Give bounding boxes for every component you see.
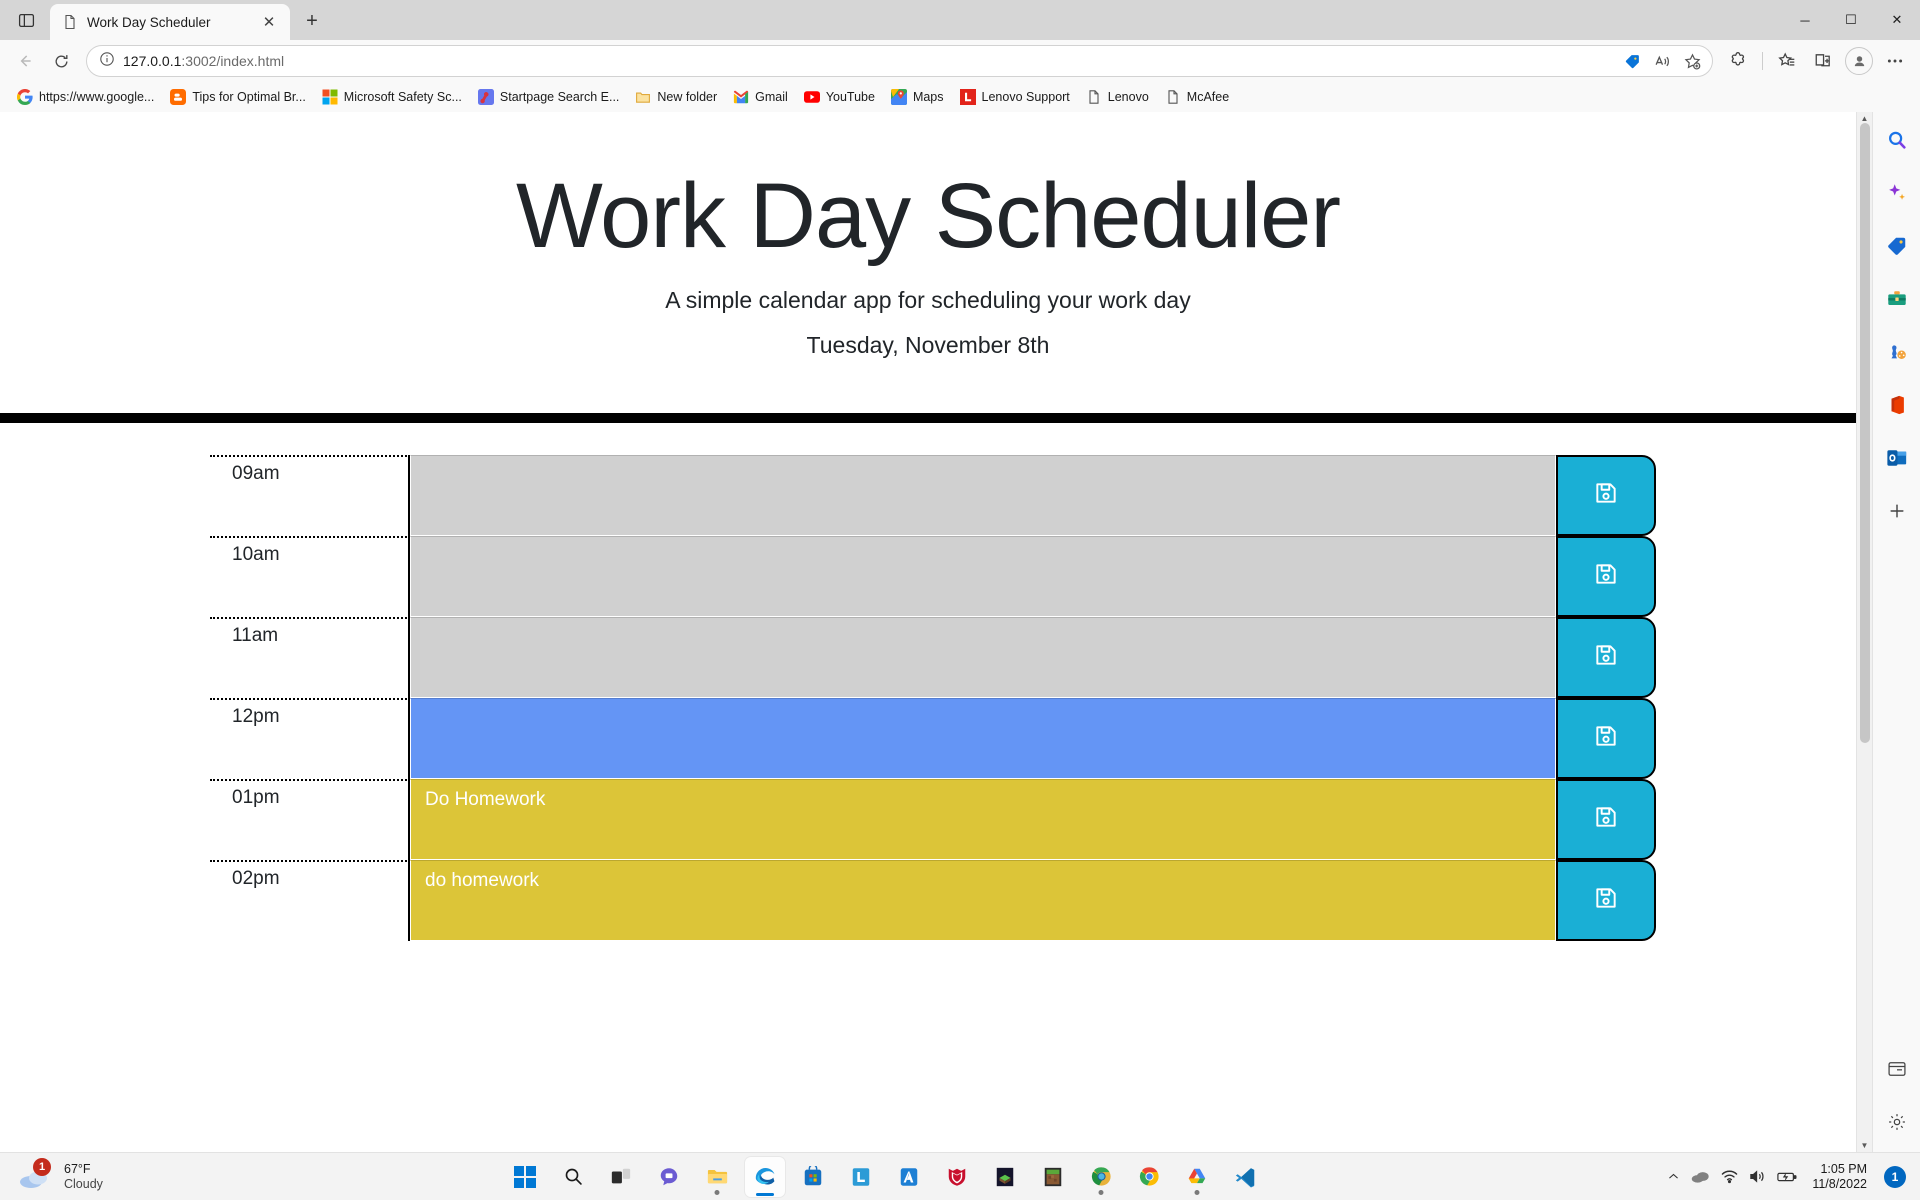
maximize-button[interactable]: ☐ — [1828, 0, 1874, 40]
wifi-icon[interactable] — [1721, 1169, 1738, 1184]
games-icon[interactable] — [1881, 336, 1913, 368]
google-drive[interactable] — [1177, 1157, 1217, 1197]
bookmark-lenovo-support[interactable]: Lenovo Support — [953, 86, 1077, 108]
address-bar[interactable]: 127.0.0.1:3002/index.html — [86, 45, 1713, 77]
file-explorer[interactable] — [697, 1157, 737, 1197]
copilot-sparkle-icon[interactable] — [1881, 177, 1913, 209]
add-favorite-icon[interactable] — [1678, 47, 1706, 75]
browser-tab[interactable]: Work Day Scheduler ✕ — [50, 4, 290, 40]
cloud-icon: 1 — [18, 1162, 54, 1192]
save-floppy-icon — [1593, 885, 1619, 916]
profile-avatar-icon[interactable] — [1845, 47, 1873, 75]
bookmark-label: Maps — [913, 90, 944, 104]
task-view-button[interactable] — [601, 1157, 641, 1197]
mcafee[interactable] — [937, 1157, 977, 1197]
notification-badge[interactable]: 1 — [1884, 1166, 1906, 1188]
plus-icon[interactable]: + — [296, 5, 328, 37]
tools-icon[interactable] — [1881, 283, 1913, 315]
app-header: Work Day Scheduler A simple calendar app… — [0, 112, 1856, 387]
bookmark-label: YouTube — [826, 90, 875, 104]
microsoft-icon — [322, 89, 338, 105]
page-title: Work Day Scheduler — [0, 168, 1856, 265]
teams-chat[interactable] — [649, 1157, 689, 1197]
youtube-icon — [804, 89, 820, 105]
bookmark-label: Gmail — [755, 90, 788, 104]
header-divider — [0, 413, 1856, 423]
scrollbar-track[interactable] — [1857, 123, 1873, 1141]
bookmark-maps[interactable]: Maps — [884, 86, 951, 108]
scheduler-app: Work Day Scheduler A simple calendar app… — [0, 112, 1856, 1152]
minimize-button[interactable]: ─ — [1782, 0, 1828, 40]
page-viewport: Work Day Scheduler A simple calendar app… — [0, 112, 1920, 1152]
lenovo-icon — [960, 89, 976, 105]
bookmark-startpage-search-e[interactable]: Startpage Search E... — [471, 86, 627, 108]
info-circle-icon[interactable] — [99, 51, 115, 72]
navigation-bar: 127.0.0.1:3002/index.html — [0, 40, 1920, 82]
search-icon[interactable] — [1881, 124, 1913, 156]
extensions-icon[interactable] — [1721, 44, 1755, 78]
shopping-tag-icon[interactable] — [1881, 230, 1913, 262]
chevron-up-icon[interactable] — [1667, 1170, 1680, 1183]
outlook-icon[interactable] — [1881, 442, 1913, 474]
page-icon — [1086, 89, 1102, 105]
more-options-icon[interactable] — [1878, 44, 1912, 78]
taskbar-apps — [103, 1157, 1667, 1197]
search-button[interactable] — [553, 1157, 593, 1197]
bookmark-gmail[interactable]: Gmail — [726, 86, 795, 108]
onedrive-cloud-icon[interactable] — [1691, 1169, 1710, 1184]
hour-label: 02pm — [210, 860, 410, 941]
bookmark-label: Startpage Search E... — [500, 90, 620, 104]
current-day-display: Tuesday, November 8th — [0, 332, 1856, 359]
windows-taskbar: 1 67°F Cloudy — [0, 1152, 1920, 1200]
scrollbar-thumb[interactable] — [1860, 123, 1870, 743]
read-aloud-icon[interactable] — [1648, 47, 1676, 75]
bookmark-label: Tips for Optimal Br... — [192, 90, 305, 104]
favorites-list-icon[interactable] — [1770, 44, 1804, 78]
start-button[interactable] — [505, 1157, 545, 1197]
hour-label: 11am — [210, 617, 410, 698]
task-input[interactable] — [410, 617, 1556, 698]
tab-title: Work Day Scheduler — [87, 15, 249, 30]
time-block: 01pm Do Homework — [210, 779, 1656, 860]
browser-essentials-icon[interactable] — [1881, 1053, 1913, 1085]
task-input[interactable] — [410, 698, 1556, 779]
sidebar-settings-icon[interactable] — [1881, 1106, 1913, 1138]
running-indicator — [715, 1190, 720, 1195]
hour-label: 01pm — [210, 779, 410, 860]
page-icon — [62, 14, 78, 30]
weather-condition: Cloudy — [64, 1177, 103, 1192]
save-floppy-icon — [1593, 804, 1619, 835]
bookmark-label: New folder — [657, 90, 717, 104]
save-button[interactable] — [1556, 860, 1656, 941]
schedule-container: 09am 10am — [0, 423, 1856, 941]
clock-time: 1:05 PM — [1812, 1162, 1867, 1177]
task-input[interactable]: Do Homework — [410, 779, 1556, 860]
save-button[interactable] — [1556, 698, 1656, 779]
blogger-icon — [170, 89, 186, 105]
battery-charging-icon[interactable] — [1777, 1170, 1797, 1184]
bookmark-label: Lenovo Support — [982, 90, 1070, 104]
bookmark-microsoft-safety-sc[interactable]: Microsoft Safety Sc... — [315, 86, 469, 108]
url-path: :3002/index.html — [181, 53, 284, 69]
tab-list-icon[interactable] — [6, 3, 46, 37]
clock-date: 11/8/2022 — [1812, 1177, 1867, 1192]
weather-temperature: 67°F — [64, 1162, 103, 1177]
system-tray: 1:05 PM 11/8/2022 1 — [1667, 1162, 1920, 1192]
bookmark-google[interactable]: https://www.google... — [10, 86, 161, 108]
google-icon — [17, 89, 33, 105]
office-icon[interactable] — [1881, 389, 1913, 421]
scroll-down-icon[interactable]: ▼ — [1861, 1141, 1869, 1150]
bookmark-mcafee[interactable]: McAfee — [1158, 86, 1236, 108]
time-block: 12pm — [210, 698, 1656, 779]
address-bar-url[interactable]: 127.0.0.1:3002/index.html — [123, 53, 1610, 69]
time-block: 10am — [210, 536, 1656, 617]
bookmark-youtube[interactable]: YouTube — [797, 86, 882, 108]
bookmark-lenovo[interactable]: Lenovo — [1079, 86, 1156, 108]
maps-icon — [891, 89, 907, 105]
page-scrollbar[interactable]: ▲ ▼ — [1856, 112, 1872, 1152]
scroll-up-icon[interactable]: ▲ — [1861, 114, 1869, 123]
running-indicator — [756, 1193, 774, 1196]
refresh-icon[interactable] — [44, 44, 78, 78]
visual-studio-code[interactable] — [1225, 1157, 1265, 1197]
window-controls: ─ ☐ ✕ — [1782, 0, 1920, 40]
task-input[interactable] — [410, 536, 1556, 617]
save-button[interactable] — [1556, 779, 1656, 860]
bookmark-label: Microsoft Safety Sc... — [344, 90, 462, 104]
folder-icon — [635, 89, 651, 105]
browser-window: Work Day Scheduler ✕ + ─ ☐ ✕ — [0, 0, 1920, 1152]
startpage-icon — [478, 89, 494, 105]
bookmark-new-folder[interactable]: New folder — [628, 86, 724, 108]
address-bar-actions — [1618, 47, 1706, 75]
edge-sidebar — [1872, 112, 1920, 1152]
taskbar-clock[interactable]: 1:05 PM 11/8/2022 — [1812, 1162, 1867, 1192]
bookmark-tips-for-optimal-br[interactable]: Tips for Optimal Br... — [163, 86, 312, 108]
save-floppy-icon — [1593, 723, 1619, 754]
microsoft-edge[interactable] — [745, 1157, 785, 1197]
minecraft[interactable] — [1033, 1157, 1073, 1197]
running-indicator — [1099, 1190, 1104, 1195]
task-input[interactable] — [410, 455, 1556, 536]
time-block: 11am — [210, 617, 1656, 698]
add-sidebar-icon[interactable] — [1881, 495, 1913, 527]
save-button[interactable] — [1556, 536, 1656, 617]
app-subtitle: A simple calendar app for scheduling you… — [0, 287, 1856, 314]
toolbar-divider — [1762, 52, 1763, 70]
save-floppy-icon — [1593, 480, 1619, 511]
back-arrow-icon[interactable] — [8, 44, 42, 78]
speaker-icon[interactable] — [1749, 1169, 1766, 1184]
google-chrome[interactable] — [1129, 1157, 1169, 1197]
gmail-icon — [733, 89, 749, 105]
lenovo-vantage[interactable] — [841, 1157, 881, 1197]
weather-widget[interactable]: 1 67°F Cloudy — [0, 1162, 103, 1192]
save-floppy-icon — [1593, 642, 1619, 673]
close-icon[interactable]: ✕ — [258, 11, 280, 33]
hour-label: 09am — [210, 455, 410, 536]
bookmark-label: https://www.google... — [39, 90, 154, 104]
tab-strip: Work Day Scheduler ✕ + ─ ☐ ✕ — [0, 0, 1920, 40]
bookmark-label: McAfee — [1187, 90, 1229, 104]
time-block: 02pm do homework — [210, 860, 1656, 941]
hour-label: 12pm — [210, 698, 410, 779]
bookmark-label: Lenovo — [1108, 90, 1149, 104]
bookmarks-bar: https://www.google... Tips for Optimal B… — [0, 82, 1920, 112]
save-button[interactable] — [1556, 617, 1656, 698]
save-button[interactable] — [1556, 455, 1656, 536]
close-button[interactable]: ✕ — [1874, 0, 1920, 40]
hour-label: 10am — [210, 536, 410, 617]
url-host: 127.0.0.1 — [123, 53, 181, 69]
time-block: 09am — [210, 455, 1656, 536]
chrome-canary[interactable] — [1081, 1157, 1121, 1197]
running-indicator — [1195, 1190, 1200, 1195]
adobe-app[interactable] — [889, 1157, 929, 1197]
minecraft-launcher[interactable] — [985, 1157, 1025, 1197]
weather-text: 67°F Cloudy — [64, 1162, 103, 1192]
page-icon — [1165, 89, 1181, 105]
save-floppy-icon — [1593, 561, 1619, 592]
weather-badge: 1 — [33, 1158, 51, 1176]
collections-icon[interactable] — [1618, 47, 1646, 75]
microsoft-store[interactable] — [793, 1157, 833, 1197]
split-screen-icon[interactable] — [1806, 44, 1840, 78]
task-input[interactable]: do homework — [410, 860, 1556, 941]
